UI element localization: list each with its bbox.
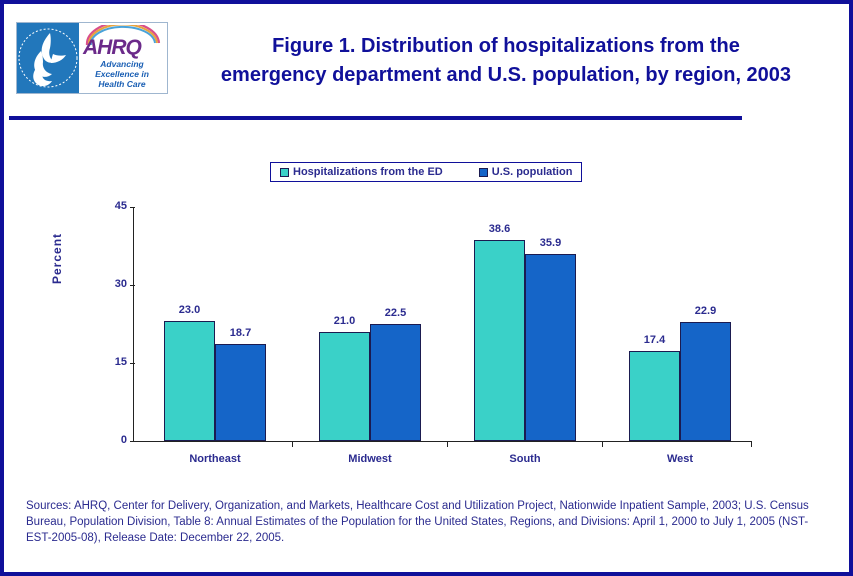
bar-south-ed [474, 240, 525, 441]
x-tick-mark-end [751, 442, 752, 447]
bar-value-label: 22.5 [370, 307, 421, 319]
bar-south-population [525, 254, 576, 441]
x-axis-line [133, 441, 752, 442]
bar-midwest-ed [319, 332, 370, 441]
y-tick-label: 45 [97, 200, 127, 212]
bar-value-label: 23.0 [164, 304, 215, 316]
y-axis-title: Percent [50, 233, 64, 284]
bar-chart: Hospitalizations from the ED U.S. popula… [4, 126, 849, 481]
bar-value-label: 38.6 [474, 223, 525, 235]
x-category-label-northeast: Northeast [134, 453, 296, 465]
y-tick-label: 30 [97, 278, 127, 290]
bar-value-label: 18.7 [215, 327, 266, 339]
bar-west-population [680, 322, 731, 441]
hhs-seal-icon [17, 23, 79, 93]
page-title-line2: emergency department and U.S. population… [180, 61, 832, 90]
x-category-label-west: West [599, 453, 761, 465]
x-tick-mark [602, 442, 603, 447]
ahrq-tagline-line2: Excellence in [79, 69, 165, 79]
bar-northeast-population [215, 344, 266, 441]
ahrq-tagline-line1: Advancing [79, 59, 165, 69]
x-category-label-south: South [444, 453, 606, 465]
bar-northeast-ed [164, 321, 215, 441]
ahrq-wordmark: AHRQ Advancing Excellence in Health Care [79, 23, 167, 93]
sources-note: Sources: AHRQ, Center for Delivery, Orga… [26, 498, 826, 546]
x-tick-mark [447, 442, 448, 447]
header-divider [9, 116, 742, 120]
y-tick-mark [130, 363, 135, 364]
y-axis-line [133, 207, 134, 442]
figure-header: AHRQ Advancing Excellence in Health Care… [4, 4, 849, 113]
bar-west-ed [629, 351, 680, 441]
x-tick-mark [292, 442, 293, 447]
bar-value-label: 21.0 [319, 315, 370, 327]
x-category-label-midwest: Midwest [289, 453, 451, 465]
y-tick-label: 15 [97, 356, 127, 368]
y-tick-mark [130, 441, 135, 442]
ahrq-hhs-logo: AHRQ Advancing Excellence in Health Care [16, 22, 168, 94]
y-tick-label: 0 [97, 434, 127, 446]
figure-page: AHRQ Advancing Excellence in Health Care… [0, 0, 853, 576]
y-tick-mark [130, 207, 135, 208]
page-title-line1: Figure 1. Distribution of hospitalizatio… [180, 32, 832, 61]
y-tick-mark [130, 285, 135, 286]
plot-area: Percent 0153045 23.018.7Northeast21.022.… [4, 126, 849, 481]
ahrq-tagline-line3: Health Care [79, 79, 165, 89]
bar-value-label: 22.9 [680, 305, 731, 317]
bar-midwest-population [370, 324, 421, 441]
page-title: Figure 1. Distribution of hospitalizatio… [180, 32, 832, 90]
ahrq-logo-text: AHRQ [83, 37, 141, 58]
bar-value-label: 17.4 [629, 334, 680, 346]
ahrq-tagline: Advancing Excellence in Health Care [79, 59, 165, 89]
bar-value-label: 35.9 [525, 237, 576, 249]
